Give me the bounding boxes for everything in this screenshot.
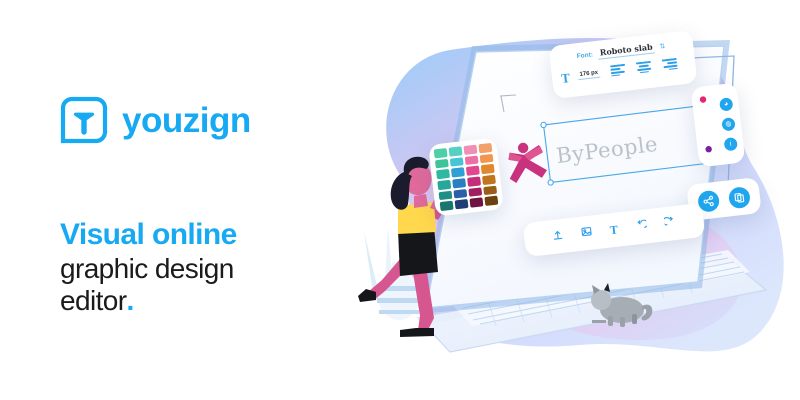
chevron-updown-icon[interactable]: ⇅ [659,43,666,51]
color-swatch[interactable] [466,166,480,176]
color-swatch[interactable] [449,146,463,156]
color-swatch[interactable] [435,159,449,169]
color-swatch[interactable] [465,155,479,165]
color-swatch[interactable] [434,148,448,158]
text-icon[interactable]: T [609,224,618,237]
text-size-T-icon: T [560,71,570,85]
gradient-slider-icon[interactable] [697,93,715,161]
undo-icon[interactable] [635,217,648,236]
redo-icon[interactable] [664,214,677,233]
color-palette-panel[interactable] [428,137,504,216]
info-icon[interactable]: i [724,136,738,150]
headline-line-2: graphic design [60,253,237,285]
font-size-input[interactable]: 176 px [577,70,600,81]
opacity-slider-panel[interactable]: ◕ ◍ i [691,83,746,168]
color-swatch[interactable] [468,187,482,197]
color-picker-icon[interactable]: ◕ [719,97,733,111]
color-swatch[interactable] [450,157,464,167]
headline-line-1: Visual online [60,218,237,253]
youzign-y-logo-icon [60,96,108,144]
align-center-icon[interactable] [636,59,653,79]
color-swatch-grid[interactable] [434,143,499,211]
color-swatch[interactable] [483,185,497,195]
headline-line-3: editor. [60,285,237,317]
brand-wordmark: youzign [122,103,251,138]
upload-icon[interactable] [551,227,564,246]
brand-lockup: youzign [60,96,251,144]
color-swatch[interactable] [440,201,454,211]
color-swatch[interactable] [478,143,492,153]
align-left-icon[interactable] [610,62,627,82]
font-label: Font: [576,51,593,60]
color-swatch[interactable] [455,199,469,209]
headline-line-3-text: editor [60,285,126,316]
color-swatch[interactable] [480,154,494,164]
color-swatch[interactable] [463,145,477,155]
color-swatch[interactable] [482,175,496,185]
image-icon[interactable] [580,224,593,243]
color-swatch[interactable] [484,196,498,206]
duplicate-icon[interactable] [728,186,751,209]
font-family-select[interactable]: Roboto slab [597,41,655,59]
color-swatch[interactable] [451,168,465,178]
droplet-icon[interactable]: ◍ [721,117,735,131]
color-swatch[interactable] [439,190,453,200]
hero-banner: youzign Visual online graphic design edi… [0,0,800,400]
color-swatch[interactable] [437,180,451,190]
color-swatch[interactable] [453,189,467,199]
color-swatch[interactable] [452,178,466,188]
color-swatch[interactable] [436,169,450,179]
page-title: Visual online graphic design editor. [60,218,237,318]
color-swatch[interactable] [481,164,495,174]
align-right-icon[interactable] [662,56,679,76]
headline-period: . [126,285,133,316]
color-swatch[interactable] [467,176,481,186]
color-swatch[interactable] [470,198,484,208]
